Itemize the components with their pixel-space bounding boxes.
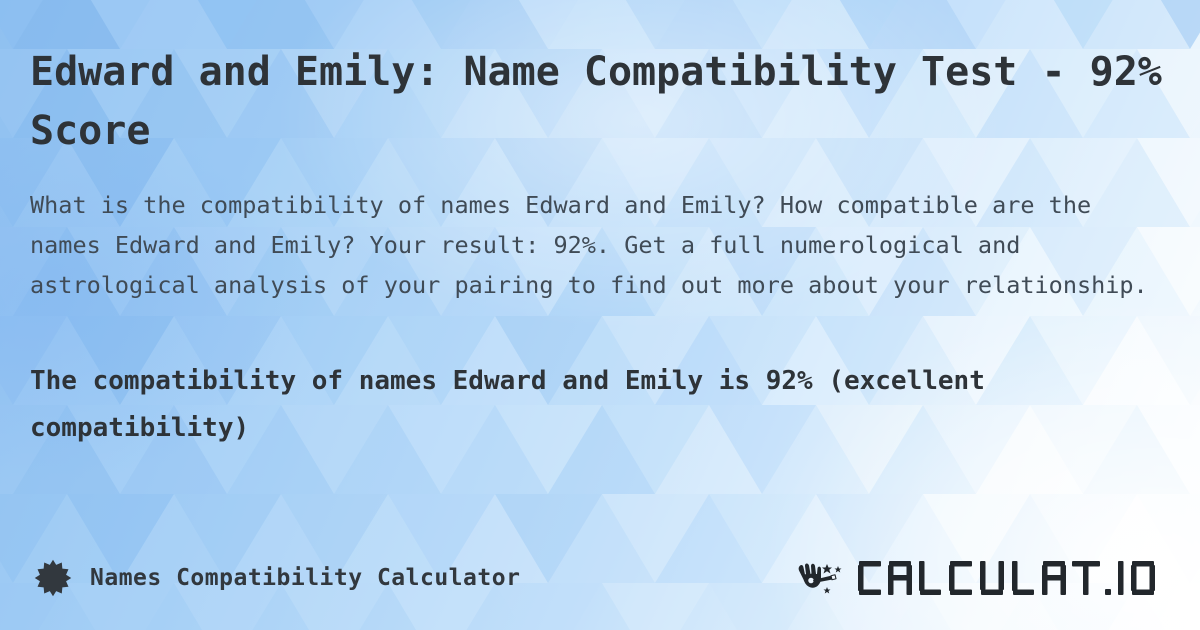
compatibility-result-text: The compatibility of names Edward and Em… <box>30 358 1170 452</box>
og-image-card: Edward and Emily: Name Compatibility Tes… <box>0 0 1200 630</box>
page-description: What is the compatibility of names Edwar… <box>30 185 1170 305</box>
footer-bar: Names Compatibility Calculator <box>0 550 1200 606</box>
logo-wordmark-calculatio <box>856 557 1166 599</box>
page-title: Edward and Emily: Name Compatibility Tes… <box>30 43 1170 161</box>
starburst-icon <box>34 559 72 597</box>
footer-label: Names Compatibility Calculator <box>90 565 520 591</box>
calculatio-logo[interactable] <box>792 557 1166 599</box>
footer-brand: Names Compatibility Calculator <box>34 559 520 597</box>
content-area: Edward and Emily: Name Compatibility Tes… <box>0 0 1200 630</box>
magic-wand-hand-icon <box>792 558 848 598</box>
